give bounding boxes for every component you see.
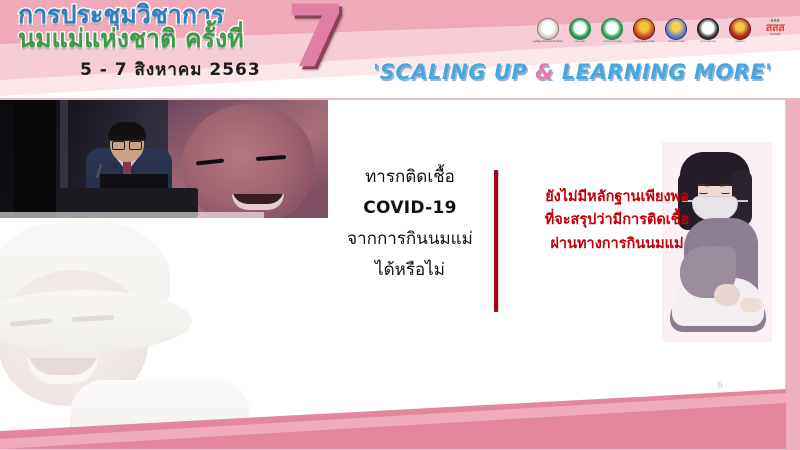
tagline-part-1: 'SCALING UP (373, 60, 535, 84)
mother-hand (714, 284, 740, 306)
conference-date: 5 - 7 สิงหาคม 2563 (18, 56, 318, 83)
conference-title-line2: นมแม่แห่งชาติ ครั้งที่ (18, 26, 318, 52)
royal-thai-government-logo: สมาคมกุมารแพทย์ (662, 18, 690, 48)
logo-caption: กรมอนามัย (575, 41, 585, 43)
logo-caption: ThaiHealth (769, 34, 780, 36)
sponsor-logo-row: มูลนิธิศูนย์นมแม่แห่งประเทศไทย กรมอนามัย… (534, 18, 792, 48)
royal-college-pediatricians-logo: ราชวิทยาลัยกุมารแพทย์ (630, 18, 658, 48)
slide-screenshot: การประชุมวิชาการ นมแม่แห่งชาติ ครั้งที่ … (0, 0, 800, 450)
conference-speaker-video[interactable] (0, 100, 328, 218)
question-line-3: จากการกินนมแม่ (330, 224, 490, 255)
answer-line-2: ที่จะสรุปว่ามีการติดเชื้อ (506, 209, 728, 232)
seal-icon (697, 18, 719, 40)
logo-caption: มูลนิธิศูนย์นมแม่แห่งประเทศไทย (533, 41, 562, 43)
seal-icon (537, 18, 559, 40)
baby-in-sunhat-watermark (0, 212, 264, 434)
seal-icon (665, 18, 687, 40)
logo-caption: สมาคมกุมารแพทย์ (668, 41, 685, 43)
watermark-fade-overlay (0, 212, 264, 434)
question-line-2: COVID-19 (330, 193, 490, 224)
medical-council-logo: แพทยสภา (726, 18, 754, 48)
seal-icon (601, 18, 623, 40)
screen-baby-mouth (232, 194, 284, 210)
answer-line-1: ยังไม่มีหลักฐานเพียงพอ (506, 186, 728, 209)
conference-banner: การประชุมวิชาการ นมแม่แห่งชาติ ครั้งที่ … (0, 0, 800, 100)
ministry-of-public-health-logo: กรมอนามัย (566, 18, 594, 48)
seal-icon (569, 18, 591, 40)
seal-icon (729, 18, 751, 40)
slide-border-right (786, 100, 800, 450)
tagline-part-2: LEARNING MORE' (554, 60, 772, 84)
department-of-health-logo: กระทรวงสาธารณสุข (598, 18, 626, 48)
logo-caption: ราชวิทยาลัยกุมารแพทย์ (633, 41, 654, 43)
tagline-ampersand: & (535, 60, 554, 84)
logo-caption: กระทรวงสาธารณสุข (603, 41, 622, 43)
answer-text-block: ยังไม่มีหลักฐานเพียงพอ ที่จะสรุปว่ามีการ… (506, 186, 728, 256)
logo-caption: สภาการพยาบาล (701, 41, 716, 43)
conference-title-block: การประชุมวิชาการ นมแม่แห่งชาติ ครั้งที่ … (18, 2, 318, 83)
logo-caption: แพทยสภา (735, 41, 744, 43)
question-text-block: ทารกติดเชื้อ COVID-19 จากการกินนมแม่ ได้… (330, 162, 490, 286)
vertical-divider (494, 170, 498, 312)
stage-dark-panel (14, 100, 56, 218)
seal-icon (633, 18, 655, 40)
slide-number: 6 (717, 381, 723, 391)
conference-edition-number: 7 (286, 0, 346, 80)
conference-tagline: 'SCALING UP & LEARNING MORE' (360, 60, 785, 84)
slide-content-area: ทารกติดเชื้อ COVID-19 จากการกินนมแม่ ได้… (0, 100, 786, 450)
speaker-glasses-icon (112, 140, 142, 147)
breastfeeding-foundation-logo: มูลนิธิศูนย์นมแม่แห่งประเทศไทย (534, 18, 562, 48)
speaker-hair (108, 122, 146, 141)
nursing-council-logo: สภาการพยาบาล (694, 18, 722, 48)
question-line-1: ทารกติดเชื้อ (330, 162, 490, 193)
answer-line-3: ผ่านทางการกินนมแม่ (506, 233, 728, 256)
stage-stripe (60, 100, 68, 190)
thaihealth-sss-logo: ▲▲▲ สสส ThaiHealth (758, 18, 792, 48)
question-line-4: ได้หรือไม่ (330, 255, 490, 286)
sss-mark: สสส (766, 22, 785, 33)
mother-foot (740, 298, 762, 312)
presentation-slide: ทารกติดเชื้อ COVID-19 จากการกินนมแม่ ได้… (0, 100, 800, 450)
